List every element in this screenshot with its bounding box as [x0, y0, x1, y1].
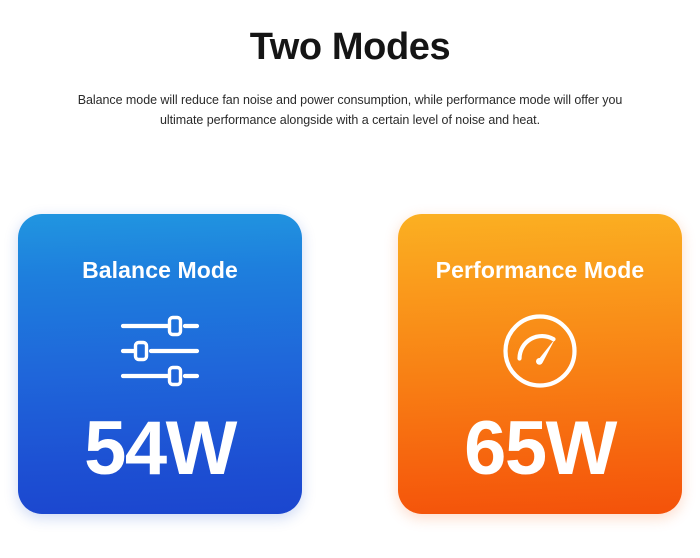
mode-card-performance-icon: [501, 310, 579, 392]
page-title: Two Modes: [0, 24, 700, 70]
mode-card-balance-wattage: 54W: [18, 406, 302, 492]
mode-card-performance-title: Performance Mode: [436, 256, 645, 284]
mode-cards-row: Balance Mode: [18, 214, 682, 514]
two-modes-page: Two Modes Balance mode will reduce fan n…: [0, 0, 700, 558]
mode-card-balance-icon: [119, 310, 201, 392]
mode-card-balance-title: Balance Mode: [82, 256, 238, 284]
page-subtitle: Balance mode will reduce fan noise and p…: [56, 90, 644, 130]
mode-card-performance[interactable]: Performance Mode 65W: [398, 214, 682, 514]
header: Two Modes Balance mode will reduce fan n…: [0, 0, 700, 130]
mode-card-performance-wattage: 65W: [398, 406, 682, 492]
sliders-icon: [119, 314, 201, 388]
speedometer-icon: [501, 312, 579, 390]
mode-card-balance[interactable]: Balance Mode: [18, 214, 302, 514]
